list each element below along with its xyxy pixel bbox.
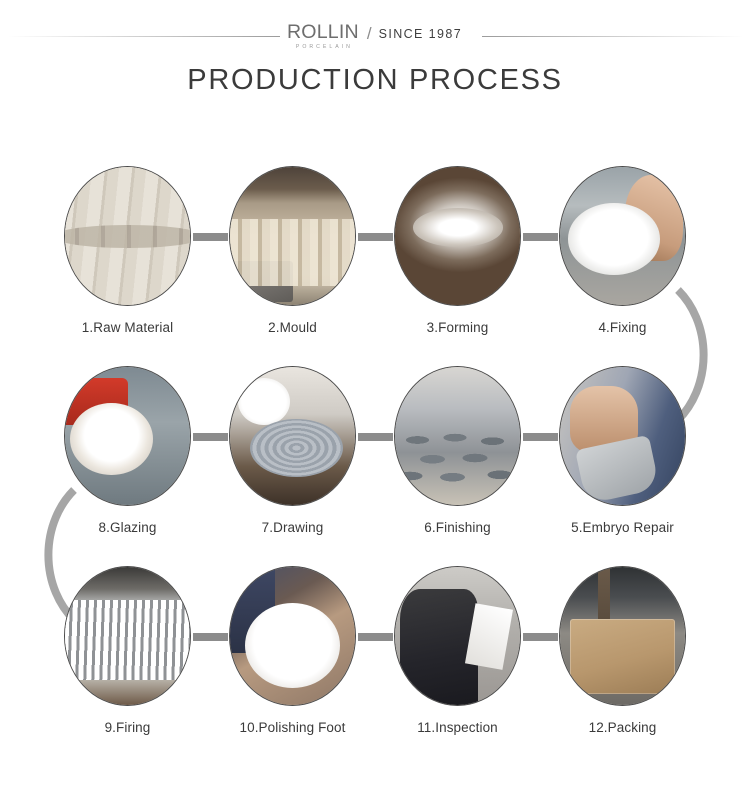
step-label: 7.Drawing [262, 520, 324, 535]
step-label: 8.Glazing [99, 520, 157, 535]
step-image-mould[interactable] [229, 166, 356, 306]
step-image-packing[interactable] [559, 566, 686, 706]
step-label: 5.Embryo Repair [571, 520, 674, 535]
step-finishing[interactable]: 6.Finishing [375, 366, 540, 541]
step-image-embryo-repair[interactable] [559, 366, 686, 506]
step-label: 9.Firing [105, 720, 151, 735]
process-row-2: 8.Glazing 7.Drawing 6.Finishing 5.Embryo… [0, 366, 750, 541]
step-label: 4.Fixing [598, 320, 646, 335]
step-image-raw-material[interactable] [64, 166, 191, 306]
step-label: 12.Packing [589, 720, 657, 735]
process-row-1: 1.Raw Material 2.Mould 3.Forming 4.Fixin… [0, 166, 750, 341]
step-label: 11.Inspection [417, 720, 498, 735]
step-image-glazing[interactable] [64, 366, 191, 506]
process-row-3: 9.Firing 10.Polishing Foot 11.Inspection… [0, 566, 750, 741]
step-fixing[interactable]: 4.Fixing [540, 166, 705, 341]
step-image-polishing-foot[interactable] [229, 566, 356, 706]
step-image-forming[interactable] [394, 166, 521, 306]
step-label: 3.Forming [427, 320, 489, 335]
step-label: 6.Finishing [424, 520, 490, 535]
step-label: 2.Mould [268, 320, 317, 335]
step-image-finishing[interactable] [394, 366, 521, 506]
step-polishing-foot[interactable]: 10.Polishing Foot [210, 566, 375, 741]
step-label: 10.Polishing Foot [239, 720, 345, 735]
step-packing[interactable]: 12.Packing [540, 566, 705, 741]
process-steps: 1.Raw Material 2.Mould 3.Forming 4.Fixin… [0, 0, 750, 788]
step-embryo-repair[interactable]: 5.Embryo Repair [540, 366, 705, 541]
step-drawing[interactable]: 7.Drawing [210, 366, 375, 541]
step-label: 1.Raw Material [82, 320, 173, 335]
step-glazing[interactable]: 8.Glazing [45, 366, 210, 541]
step-firing[interactable]: 9.Firing [45, 566, 210, 741]
step-image-firing[interactable] [64, 566, 191, 706]
step-raw-material[interactable]: 1.Raw Material [45, 166, 210, 341]
step-inspection[interactable]: 11.Inspection [375, 566, 540, 741]
step-image-fixing[interactable] [559, 166, 686, 306]
step-forming[interactable]: 3.Forming [375, 166, 540, 341]
step-mould[interactable]: 2.Mould [210, 166, 375, 341]
step-image-inspection[interactable] [394, 566, 521, 706]
step-image-drawing[interactable] [229, 366, 356, 506]
